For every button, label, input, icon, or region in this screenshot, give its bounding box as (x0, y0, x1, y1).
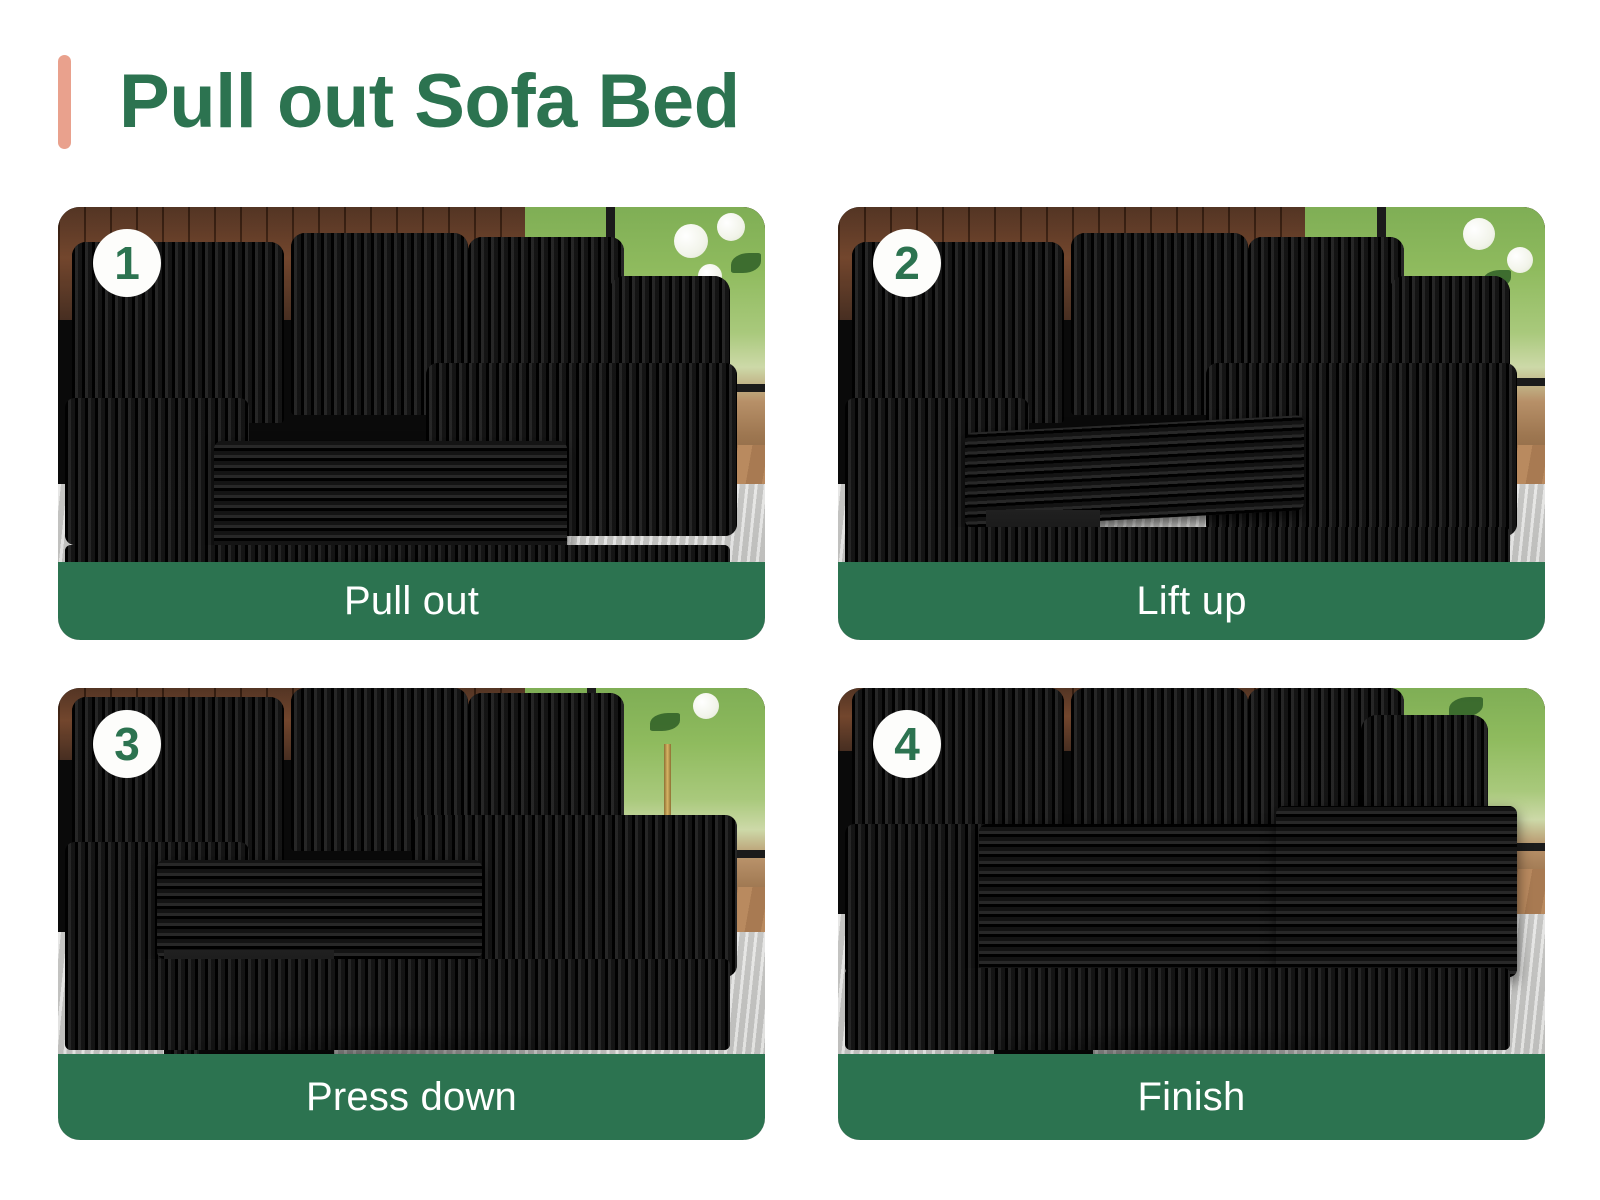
step-caption-text-3: Press down (306, 1075, 517, 1120)
step-badge-3: 3 (93, 710, 161, 778)
sofa-base-rail (65, 959, 730, 1049)
step-caption-text-1: Pull out (344, 579, 479, 624)
step-number-4: 4 (894, 721, 920, 767)
step-number-3: 3 (114, 721, 140, 767)
page-title: Pull out Sofa Bed (119, 64, 740, 140)
step-badge-1: 1 (93, 229, 161, 297)
step-caption-4: Finish (838, 1054, 1545, 1140)
page-header: Pull out Sofa Bed (58, 48, 740, 156)
step-card-4[interactable]: 4 Finish (838, 688, 1545, 1140)
sofa-base-rail (845, 968, 1510, 1049)
step-caption-text-2: Lift up (1136, 579, 1246, 624)
step-caption-text-4: Finish (1138, 1075, 1246, 1120)
step-caption-2: Lift up (838, 562, 1545, 640)
step-caption-1: Pull out (58, 562, 765, 640)
step-caption-3: Press down (58, 1054, 765, 1140)
steps-grid: 1 Pull out (58, 207, 1545, 1140)
step-card-2[interactable]: 2 Lift up (838, 207, 1545, 640)
sofa-backrest-middle (1071, 688, 1248, 842)
step-card-3[interactable]: 3 Press down (58, 688, 765, 1140)
title-accent-bar (58, 55, 71, 149)
step-badge-4: 4 (873, 710, 941, 778)
step-card-1[interactable]: 1 Pull out (58, 207, 765, 640)
step-badge-2: 2 (873, 229, 941, 297)
bed-panel (157, 860, 482, 959)
bed-surface-left (979, 824, 1304, 978)
bed-surface-right (1276, 806, 1516, 978)
step-number-1: 1 (114, 240, 140, 286)
step-number-2: 2 (894, 240, 920, 286)
